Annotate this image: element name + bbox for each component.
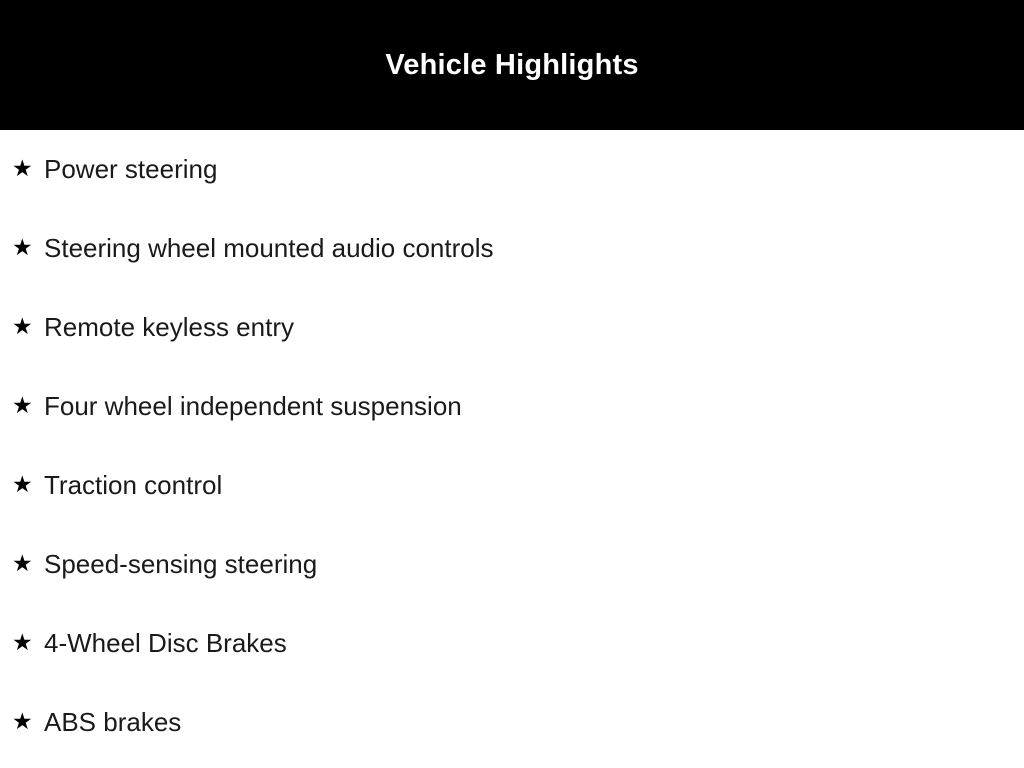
list-item: ★ Speed-sensing steering [0, 525, 1024, 604]
list-item: ★ 4-Wheel Disc Brakes [0, 604, 1024, 683]
highlight-label: Power steering [44, 155, 217, 184]
highlight-label: Steering wheel mounted audio controls [44, 234, 494, 263]
page-title: Vehicle Highlights [0, 0, 1024, 130]
star-icon: ★ [12, 553, 33, 576]
star-icon: ★ [12, 316, 33, 339]
list-item: ★ Remote keyless entry [0, 288, 1024, 367]
list-item: ★ ABS brakes [0, 683, 1024, 762]
star-icon: ★ [12, 158, 33, 181]
star-icon: ★ [12, 237, 33, 260]
list-item: ★ Steering wheel mounted audio controls [0, 209, 1024, 288]
highlight-label: 4-Wheel Disc Brakes [44, 629, 287, 658]
highlight-label: Remote keyless entry [44, 313, 294, 342]
header-bar: Vehicle Highlights [0, 0, 1024, 130]
star-icon: ★ [12, 395, 33, 418]
star-icon: ★ [12, 474, 33, 497]
highlight-label: Speed-sensing steering [44, 550, 317, 579]
star-icon: ★ [12, 711, 33, 734]
list-item: ★ Traction control [0, 446, 1024, 525]
star-icon: ★ [12, 632, 33, 655]
highlight-label: ABS brakes [44, 708, 181, 737]
highlight-label: Four wheel independent suspension [44, 392, 462, 421]
vehicle-highlights-page: Vehicle Highlights ★ Power steering ★ St… [0, 0, 1024, 768]
highlight-label: Traction control [44, 471, 222, 500]
list-item: ★ Four wheel independent suspension [0, 367, 1024, 446]
list-item: ★ Power steering [0, 130, 1024, 209]
vehicle-highlights-list: ★ Power steering ★ Steering wheel mounte… [0, 130, 1024, 762]
